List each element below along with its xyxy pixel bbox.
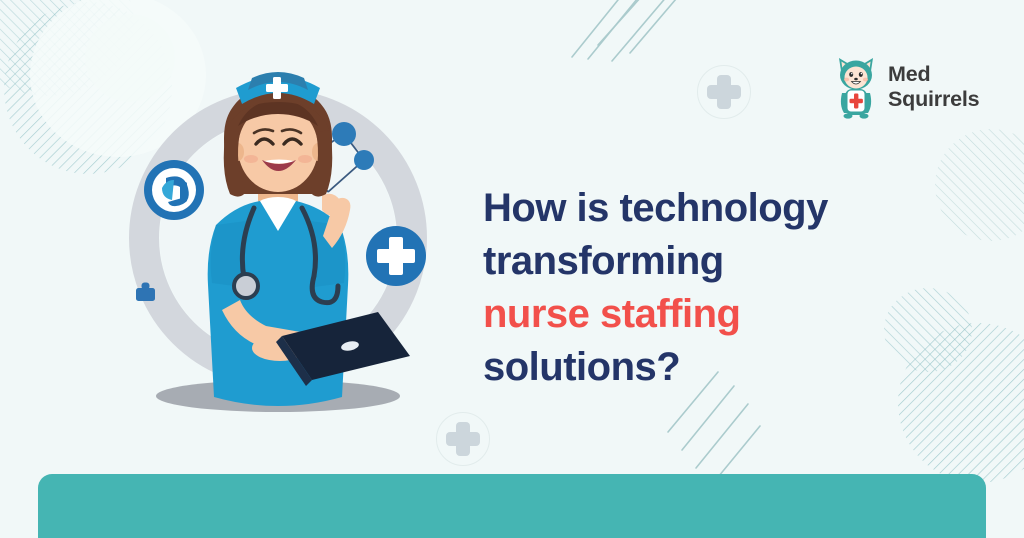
headline-line-4: solutions? <box>483 341 953 394</box>
cross-ornament-top <box>697 65 751 119</box>
diagonal-lines-top <box>550 0 720 125</box>
headline-line-1: How is technology <box>483 182 953 235</box>
logo-line-1: Med <box>888 62 979 87</box>
stethoscope-chestpiece <box>234 274 258 298</box>
logo-wordmark: Med Squirrels <box>888 62 979 113</box>
medical-cross-badge <box>366 226 426 286</box>
headline-line-3-accent: nurse staffing <box>483 288 953 341</box>
pharmacy-badge <box>144 160 204 220</box>
cross-ornament-bottom <box>436 412 490 466</box>
headline-line-2: transforming <box>483 235 953 288</box>
blog-banner: Med Squirrels How is technology transfor… <box>0 0 1024 538</box>
nurse-illustration <box>96 60 476 420</box>
page-title: How is technology transforming nurse sta… <box>483 182 953 395</box>
squirrel-mascot-icon <box>833 55 879 119</box>
logo-line-2: Squirrels <box>888 87 979 112</box>
content-panel <box>38 474 986 538</box>
brand-logo[interactable]: Med Squirrels <box>833 55 979 119</box>
